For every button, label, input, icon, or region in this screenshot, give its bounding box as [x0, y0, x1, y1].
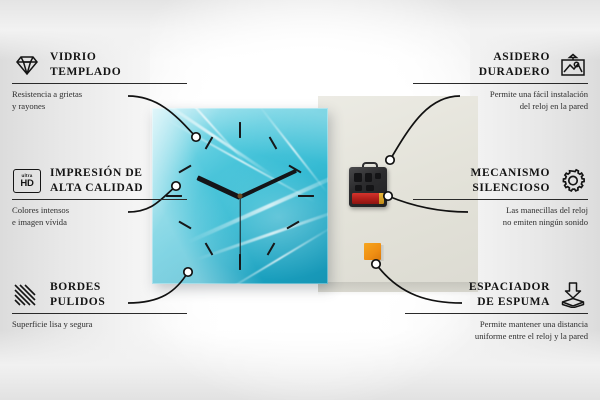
feature-title: ASIDERO DURADERO	[479, 50, 550, 79]
ultra-hd-badge-icon: ultra HD	[12, 166, 42, 196]
feature-description: Permite una fácil instalación del reloj …	[413, 88, 588, 112]
feature-divider	[413, 83, 588, 84]
connector-node-vidrio	[192, 133, 200, 141]
diamond-icon	[12, 50, 42, 80]
picture-hanger-icon	[558, 50, 588, 80]
feature-description: Las manecillas del reloj no emiten ningú…	[413, 204, 588, 228]
feature-mecanismo-silencioso: MECANISMO SILENCIOSO Las manecillas del …	[413, 166, 588, 228]
feature-divider	[413, 199, 588, 200]
connector-node-mecanismo	[384, 192, 392, 200]
feature-title: MECANISMO SILENCIOSO	[470, 166, 550, 195]
connector-node-bordes	[184, 268, 192, 276]
feature-vidrio-templado: VIDRIO TEMPLADO Resistencia a grietas y …	[12, 50, 187, 112]
feature-divider	[405, 313, 588, 314]
feature-divider	[12, 83, 187, 84]
feature-description: Permite mantener una distancia uniforme …	[405, 318, 588, 342]
feature-title: BORDES PULIDOS	[50, 280, 105, 309]
feature-bordes-pulidos: BORDES PULIDOS Superficie lisa y segura	[12, 280, 187, 330]
feature-title: VIDRIO TEMPLADO	[50, 50, 121, 79]
feature-title: IMPRESIÓN DE ALTA CALIDAD	[50, 166, 143, 195]
polished-edges-icon	[12, 280, 42, 310]
feature-asidero-duradero: ASIDERO DURADERO Permite una fácil insta…	[413, 50, 588, 112]
badge-hd-label: HD	[20, 179, 33, 189]
gear-icon	[558, 166, 588, 196]
feature-title: ESPACIADOR DE ESPUMA	[469, 280, 550, 309]
connector-node-asidero	[386, 156, 394, 164]
feature-description: Resistencia a grietas y rayones	[12, 88, 187, 112]
connector-node-espaciador	[372, 260, 380, 268]
infographic-page: VIDRIO TEMPLADO Resistencia a grietas y …	[0, 0, 600, 400]
foam-spacer-icon	[558, 280, 588, 310]
feature-divider	[12, 199, 187, 200]
feature-description: Superficie lisa y segura	[12, 318, 187, 330]
feature-impresion-alta-calidad: ultra HD IMPRESIÓN DE ALTA CALIDAD Color…	[12, 166, 187, 228]
feature-description: Colores intensos e imagen vívida	[12, 204, 187, 228]
feature-espaciador-espuma: ESPACIADOR DE ESPUMA Permite mantener un…	[405, 280, 588, 342]
feature-divider	[12, 313, 187, 314]
